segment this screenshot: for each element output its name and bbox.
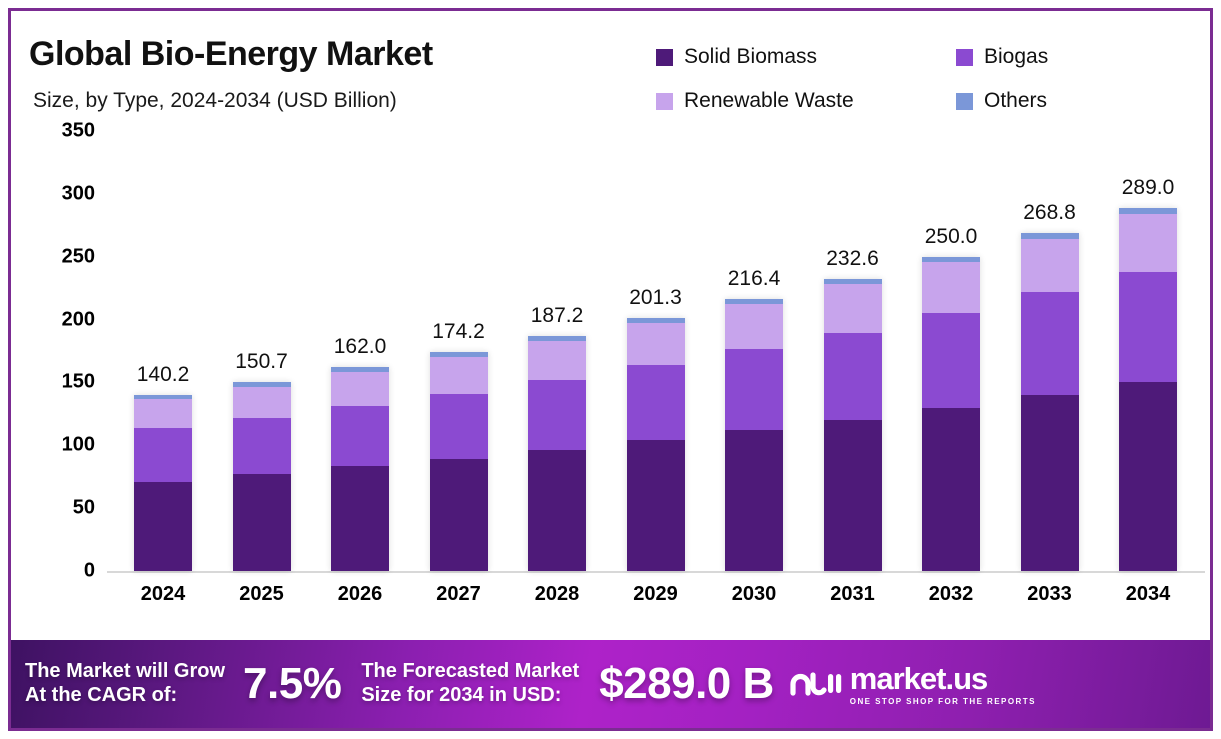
x-axis-tick-label: 2028 xyxy=(528,583,586,606)
forecast-caption-line1: The Forecasted Market xyxy=(361,660,579,684)
legend-label: Renewable Waste xyxy=(684,89,854,113)
bar-column[interactable]: 174.2 xyxy=(430,352,488,571)
bar-segment-biogas[interactable] xyxy=(922,313,980,408)
bar-series-group: 140.2150.7162.0174.2187.2201.3216.4232.6… xyxy=(107,131,1207,571)
bar-segment-biogas[interactable] xyxy=(725,349,783,431)
stacked-bar[interactable] xyxy=(627,318,685,571)
bar-column[interactable]: 187.2 xyxy=(528,336,586,571)
x-axis-line xyxy=(107,571,1205,573)
chart-infographic: Global Bio-Energy Market Size, by Type, … xyxy=(0,0,1221,739)
bar-value-label: 250.0 xyxy=(896,225,1006,249)
bar-value-label: 174.2 xyxy=(404,320,514,344)
bar-segment-biogas[interactable] xyxy=(430,394,488,459)
stacked-bar[interactable] xyxy=(134,395,192,571)
bar-column[interactable]: 201.3 xyxy=(627,318,685,571)
x-axis-tick-label: 2026 xyxy=(331,583,389,606)
stacked-bar[interactable] xyxy=(824,279,882,571)
stacked-bar[interactable] xyxy=(233,382,291,571)
legend-item-solid-biomass[interactable]: Solid Biomass xyxy=(656,45,956,69)
bar-segment-biogas[interactable] xyxy=(528,380,586,450)
bar-segment-renewable-waste[interactable] xyxy=(725,304,783,349)
market-us-logo[interactable]: market.us ONE STOP SHOP FOR THE REPORTS xyxy=(790,663,1036,706)
forecast-caption: The Forecasted Market Size for 2034 in U… xyxy=(361,660,579,707)
bar-segment-renewable-waste[interactable] xyxy=(824,284,882,332)
stacked-bar[interactable] xyxy=(528,336,586,571)
bar-segment-solid-biomass[interactable] xyxy=(922,408,980,571)
market-us-logo-icon xyxy=(790,667,842,701)
bar-segment-biogas[interactable] xyxy=(627,365,685,440)
bar-value-label: 162.0 xyxy=(305,335,415,359)
bar-segment-renewable-waste[interactable] xyxy=(331,372,389,405)
chart-legend: Solid Biomass Biogas Renewable Waste Oth… xyxy=(656,45,1096,113)
bar-column[interactable]: 250.0 xyxy=(922,257,980,571)
bar-column[interactable]: 162.0 xyxy=(331,367,389,571)
cagr-caption-line1: The Market will Grow xyxy=(25,660,225,684)
bar-segment-solid-biomass[interactable] xyxy=(134,482,192,571)
bar-segment-renewable-waste[interactable] xyxy=(1119,214,1177,272)
x-axis-tick-label: 2029 xyxy=(627,583,685,606)
cagr-caption-line2: At the CAGR of: xyxy=(25,684,225,708)
bar-segment-biogas[interactable] xyxy=(331,406,389,466)
x-axis-tick-label: 2031 xyxy=(824,583,882,606)
y-axis-tick-label: 300 xyxy=(62,182,95,205)
bar-value-label: 232.6 xyxy=(798,247,908,271)
bar-segment-biogas[interactable] xyxy=(233,418,291,474)
chart-frame: Global Bio-Energy Market Size, by Type, … xyxy=(8,8,1213,731)
x-axis-tick-label: 2034 xyxy=(1119,583,1177,606)
bar-segment-solid-biomass[interactable] xyxy=(627,440,685,571)
legend-swatch-icon xyxy=(956,93,973,110)
bar-segment-renewable-waste[interactable] xyxy=(528,341,586,380)
bar-value-label: 268.8 xyxy=(995,201,1105,225)
bar-segment-renewable-waste[interactable] xyxy=(233,387,291,418)
legend-swatch-icon xyxy=(656,49,673,66)
cagr-caption: The Market will Grow At the CAGR of: xyxy=(25,660,225,707)
bar-segment-solid-biomass[interactable] xyxy=(430,459,488,572)
bar-segment-biogas[interactable] xyxy=(1021,292,1079,395)
bar-value-label: 187.2 xyxy=(502,304,612,328)
legend-item-renewable-waste[interactable]: Renewable Waste xyxy=(656,89,956,113)
bar-value-label: 201.3 xyxy=(601,286,711,310)
y-axis-tick-label: 50 xyxy=(73,497,95,520)
legend-swatch-icon xyxy=(956,49,973,66)
bar-segment-biogas[interactable] xyxy=(1119,272,1177,383)
bar-segment-solid-biomass[interactable] xyxy=(528,450,586,571)
plot-area: 050100150200250300350 140.2150.7162.0174… xyxy=(11,131,1210,631)
logo-tagline: ONE STOP SHOP FOR THE REPORTS xyxy=(850,697,1036,706)
legend-item-biogas[interactable]: Biogas xyxy=(956,45,1096,69)
bar-segment-solid-biomass[interactable] xyxy=(233,474,291,571)
market-us-logo-text: market.us ONE STOP SHOP FOR THE REPORTS xyxy=(850,663,1036,706)
bar-segment-solid-biomass[interactable] xyxy=(824,420,882,571)
bar-value-label: 140.2 xyxy=(108,363,218,387)
x-axis-tick-label: 2024 xyxy=(134,583,192,606)
forecast-value: $289.0 B xyxy=(599,659,774,709)
bar-segment-solid-biomass[interactable] xyxy=(1021,395,1079,571)
legend-label: Biogas xyxy=(984,45,1048,69)
stacked-bar[interactable] xyxy=(430,352,488,571)
x-axis-tick-label: 2032 xyxy=(922,583,980,606)
bar-column[interactable]: 150.7 xyxy=(233,382,291,571)
bar-column[interactable]: 268.8 xyxy=(1021,233,1079,571)
legend-label: Solid Biomass xyxy=(684,45,817,69)
bar-segment-renewable-waste[interactable] xyxy=(134,399,192,428)
y-axis-tick-label: 0 xyxy=(84,560,95,583)
x-axis: 2024202520262027202820292030203120322033… xyxy=(107,583,1207,623)
y-axis-tick-label: 150 xyxy=(62,371,95,394)
bar-segment-solid-biomass[interactable] xyxy=(725,430,783,571)
bar-segment-renewable-waste[interactable] xyxy=(1021,239,1079,292)
page-subtitle: Size, by Type, 2024-2034 (USD Billion) xyxy=(33,89,397,113)
forecast-caption-line2: Size for 2034 in USD: xyxy=(361,684,579,708)
legend-item-others[interactable]: Others xyxy=(956,89,1096,113)
x-axis-tick-label: 2025 xyxy=(233,583,291,606)
bar-segment-solid-biomass[interactable] xyxy=(1119,382,1177,571)
cagr-value: 7.5% xyxy=(243,659,341,709)
x-axis-tick-label: 2033 xyxy=(1021,583,1079,606)
logo-name: market.us xyxy=(850,663,1036,694)
legend-swatch-icon xyxy=(656,93,673,110)
x-axis-tick-label: 2027 xyxy=(430,583,488,606)
y-axis-tick-label: 250 xyxy=(62,245,95,268)
y-axis-tick-label: 350 xyxy=(62,120,95,143)
bar-segment-solid-biomass[interactable] xyxy=(331,466,389,571)
stacked-bar[interactable] xyxy=(331,367,389,571)
page-title: Global Bio-Energy Market xyxy=(29,35,433,74)
bar-value-label: 150.7 xyxy=(207,350,317,374)
y-axis-tick-label: 200 xyxy=(62,308,95,331)
bar-column[interactable]: 140.2 xyxy=(134,395,192,571)
y-axis: 050100150200250300350 xyxy=(11,131,103,581)
bar-segment-renewable-waste[interactable] xyxy=(922,262,980,313)
stacked-bar[interactable] xyxy=(1119,208,1177,571)
bar-segment-biogas[interactable] xyxy=(824,333,882,420)
bar-value-label: 289.0 xyxy=(1093,176,1203,200)
bar-segment-renewable-waste[interactable] xyxy=(627,323,685,365)
bar-value-label: 216.4 xyxy=(699,267,809,291)
stacked-bar[interactable] xyxy=(1021,233,1079,571)
x-axis-tick-label: 2030 xyxy=(725,583,783,606)
stacked-bar[interactable] xyxy=(725,299,783,571)
bar-column[interactable]: 216.4 xyxy=(725,299,783,571)
bar-segment-renewable-waste[interactable] xyxy=(430,357,488,393)
summary-banner: The Market will Grow At the CAGR of: 7.5… xyxy=(11,640,1210,728)
stacked-bar[interactable] xyxy=(922,257,980,571)
legend-label: Others xyxy=(984,89,1047,113)
y-axis-tick-label: 100 xyxy=(62,434,95,457)
bar-column[interactable]: 232.6 xyxy=(824,279,882,571)
bar-segment-biogas[interactable] xyxy=(134,428,192,481)
bar-column[interactable]: 289.0 xyxy=(1119,208,1177,571)
